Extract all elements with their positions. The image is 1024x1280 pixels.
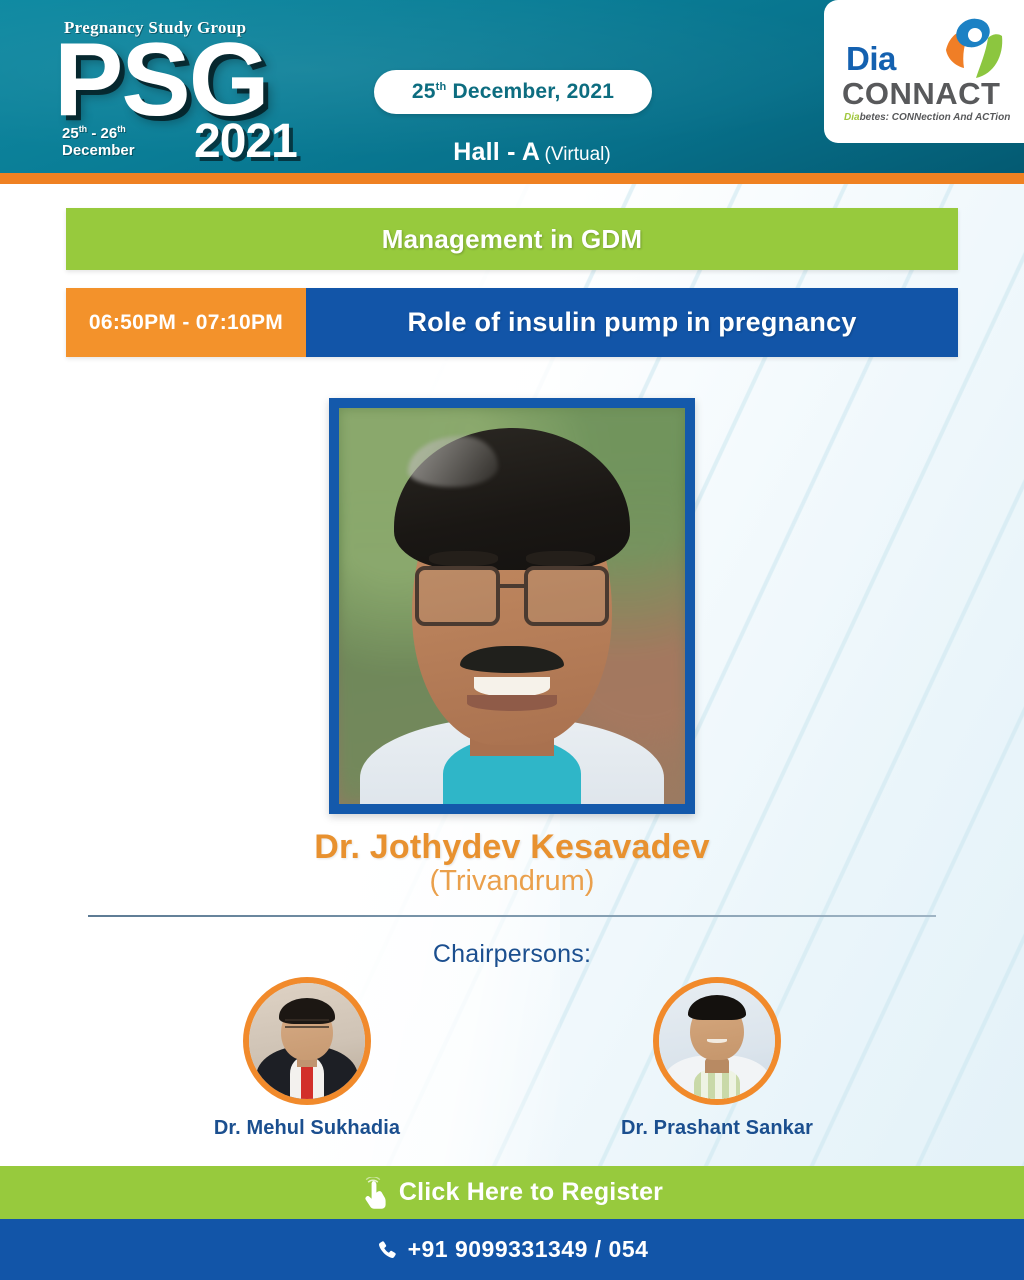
chairperson-name-1: Dr. Mehul Sukhadia bbox=[207, 1117, 407, 1140]
speaker-photo-frame bbox=[329, 398, 695, 814]
sponsor-name-connect: CONNACT bbox=[842, 76, 1001, 112]
speaker-city: (Trivandrum) bbox=[0, 865, 1024, 898]
contact-bar: +91 9099331349 / 054 bbox=[0, 1219, 1024, 1280]
event-poster: Pregnancy Study Group PSG 25th - 26th De… bbox=[0, 0, 1024, 1280]
sponsor-tagline: Diabetes: CONNection And ACTion bbox=[844, 112, 1010, 123]
event-date-rest: December, 2021 bbox=[446, 80, 614, 103]
event-date-badge: 25th December, 2021 bbox=[374, 70, 652, 114]
psg-date-start-sup: th bbox=[79, 124, 88, 134]
session-time: 06:50PM - 07:10PM bbox=[89, 311, 283, 335]
chairperson-avatar-1 bbox=[243, 977, 371, 1105]
event-date-day-sup: th bbox=[436, 81, 447, 93]
track-title-bar: Management in GDM bbox=[66, 208, 958, 270]
click-hand-icon bbox=[361, 1177, 389, 1209]
psg-date-end-sup: th bbox=[117, 124, 126, 134]
track-title: Management in GDM bbox=[382, 224, 643, 255]
session-row: 06:50PM - 07:10PM Role of insulin pump i… bbox=[66, 288, 958, 357]
chairpersons-row: Dr. Mehul Sukhadia Dr. Prashant Sankar bbox=[0, 977, 1024, 1140]
session-topic: Role of insulin pump in pregnancy bbox=[407, 307, 856, 338]
section-divider bbox=[88, 915, 936, 917]
phone-icon bbox=[376, 1239, 398, 1261]
session-block: Management in GDM 06:50PM - 07:10PM Role… bbox=[66, 208, 958, 357]
session-topic-bar: Role of insulin pump in pregnancy bbox=[306, 288, 958, 357]
speaker-section: Dr. Jothydev Kesavadev (Trivandrum) bbox=[0, 398, 1024, 898]
chairperson-avatar-2 bbox=[653, 977, 781, 1105]
chairperson-name-2: Dr. Prashant Sankar bbox=[617, 1117, 817, 1140]
sponsor-logo-card: Dia CONNACT Diabetes: CONNection And ACT… bbox=[824, 0, 1024, 143]
hall-name: Hall - A bbox=[453, 138, 540, 166]
event-date-day: 25 bbox=[412, 80, 436, 103]
session-time-chip: 06:50PM - 07:10PM bbox=[66, 288, 306, 357]
hall-mode: (Virtual) bbox=[545, 144, 611, 165]
sponsor-tagline-highlight: Dia bbox=[844, 112, 860, 123]
chairpersons-label: Chairpersons: bbox=[0, 940, 1024, 969]
chairperson-item: Dr. Mehul Sukhadia bbox=[207, 977, 407, 1140]
register-cta-label: Click Here to Register bbox=[399, 1178, 663, 1207]
poster-header: Pregnancy Study Group PSG 25th - 26th De… bbox=[0, 0, 1024, 173]
sponsor-name-dia: Dia bbox=[846, 40, 896, 78]
sponsor-tagline-rest: betes: CONNection And ACTion bbox=[860, 112, 1011, 123]
header-orange-rule bbox=[0, 173, 1024, 184]
speaker-name: Dr. Jothydev Kesavadev bbox=[0, 828, 1024, 867]
contact-phone: +91 9099331349 / 054 bbox=[408, 1236, 649, 1263]
speaker-portrait bbox=[339, 408, 685, 804]
register-cta-bar[interactable]: Click Here to Register bbox=[0, 1166, 1024, 1219]
chairpersons-section: Chairpersons: Dr. Mehul Sukhadia bbox=[0, 940, 1024, 1140]
chairperson-item: Dr. Prashant Sankar bbox=[617, 977, 817, 1140]
event-date-text: 25th December, 2021 bbox=[412, 80, 614, 104]
